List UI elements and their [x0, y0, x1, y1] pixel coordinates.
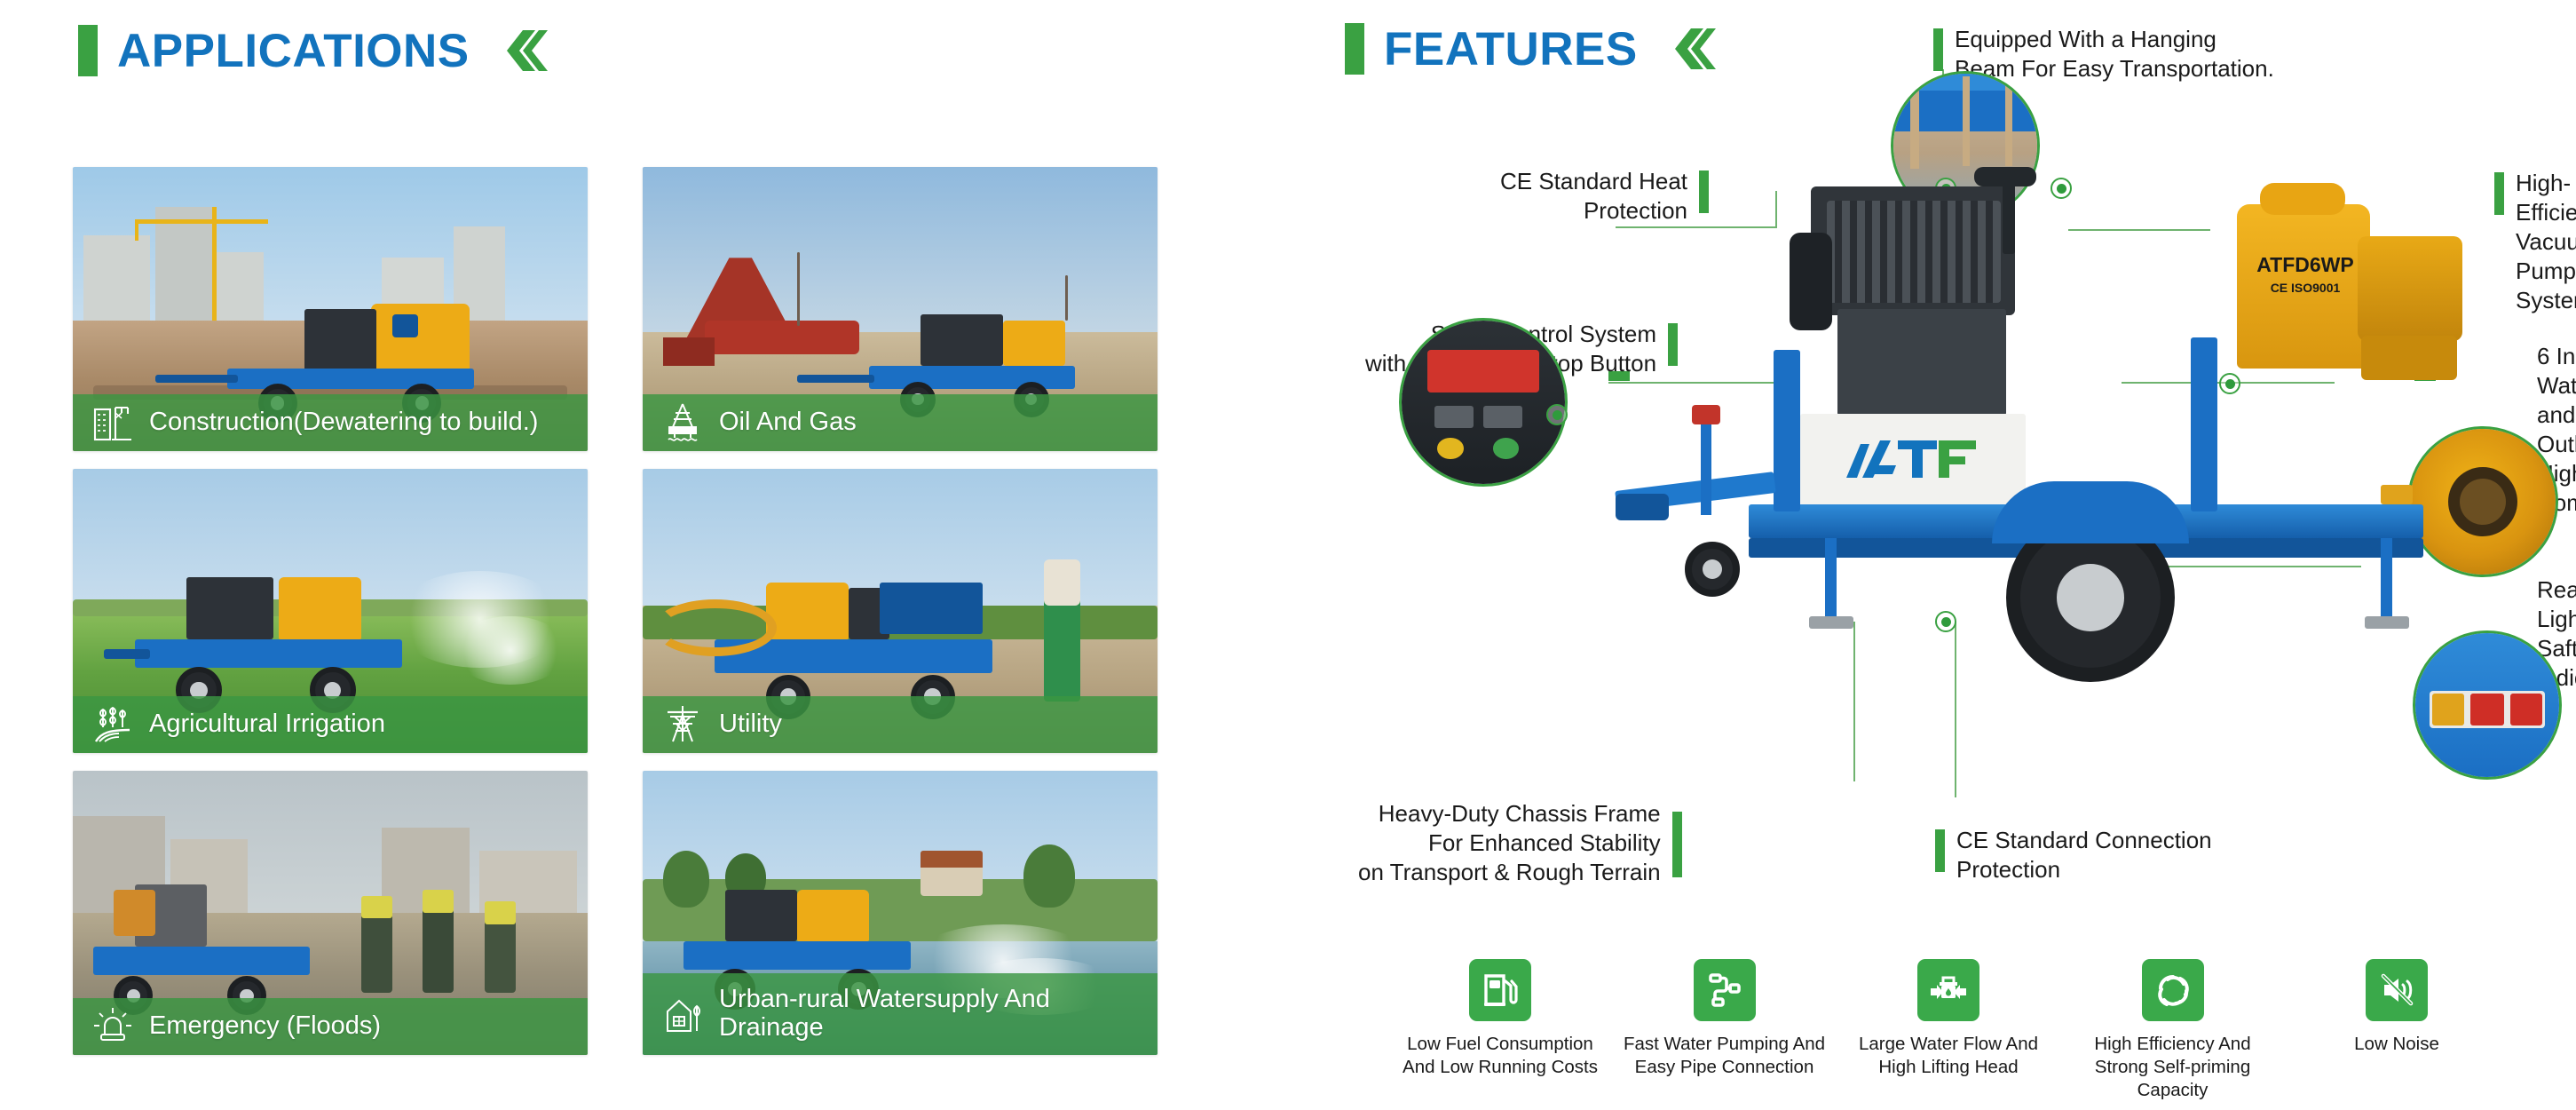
siren-light-icon [92, 1004, 133, 1047]
application-card-emergency-floods[interactable]: Emergency (Floods) [73, 771, 588, 1055]
applications-grid: Construction(Dewatering to build.) [73, 167, 1245, 1055]
application-card-urban-rural-watersupply[interactable]: Urban-rural Watersupply And Drainage [643, 771, 1158, 1055]
benefit-caption: Low Noise [2354, 1033, 2439, 1056]
brochure-page: APPLICATIONS [0, 0, 2576, 1110]
application-label-text: Emergency (Floods) [149, 1011, 381, 1040]
benefit-caption: Large Water Flow And High Lifting Head [1859, 1033, 2038, 1079]
application-label-text: Oil And Gas [719, 408, 857, 436]
application-card-oil-and-gas[interactable]: Oil And Gas [643, 167, 1158, 451]
rear-light [2381, 485, 2413, 504]
features-section: FEATURES Equipped With a Hanging B [1323, 0, 2576, 1110]
application-label: Agricultural Irrigation [73, 696, 588, 753]
applications-title: APPLICATIONS [117, 28, 470, 75]
benefits-row: Low Fuel Consumption And Low Running Cos… [1327, 959, 2570, 1101]
hotspot-smart-control[interactable] [1546, 404, 1568, 425]
double-chevron-left-icon [1670, 28, 1716, 69]
oil-rig-icon [662, 400, 703, 443]
atf-logo-panel [1800, 414, 2026, 510]
valve-flow-icon [1917, 959, 1979, 1021]
application-label-text: Urban-rural Watersupply And Drainage [719, 985, 1142, 1043]
product-illustration-pump-trailer: ATFD6WP CE ISO9001 [1616, 151, 2512, 861]
benefit-caption: High Efficiency And Strong Self-priming … [2071, 1033, 2275, 1101]
callout-text: High-Efficiency Vacuum Pump System [2516, 169, 2576, 315]
jockey-wheel [1685, 542, 1740, 597]
benefit-caption: Low Fuel Consumption And Low Running Cos… [1403, 1033, 1598, 1079]
mute-speaker-icon [2366, 959, 2428, 1021]
atf-logo [1846, 435, 1979, 488]
application-card-agricultural-irrigation[interactable]: Agricultural Irrigation [73, 469, 588, 753]
pump-model-text: ATFD6WP [2256, 253, 2353, 277]
benefit-low-fuel-consumption: Low Fuel Consumption And Low Running Cos… [1398, 959, 1602, 1101]
double-chevron-left-icon [502, 30, 548, 71]
construction-crane-icon [92, 400, 133, 443]
pump-cert-text: CE ISO9001 [2271, 281, 2341, 295]
application-label: Construction(Dewatering to build.) [73, 394, 588, 451]
callout-accent-bar [1933, 28, 1943, 71]
application-card-utility[interactable]: Utility [643, 469, 1158, 753]
power-pylon-icon [662, 702, 703, 745]
benefit-large-water-flow: Large Water Flow And High Lifting Head [1846, 959, 2051, 1101]
features-title: FEATURES [1384, 26, 1638, 73]
applications-section: APPLICATIONS [0, 0, 1323, 1110]
application-card-construction[interactable]: Construction(Dewatering to build.) [73, 167, 588, 451]
fuel-pump-icon [1469, 959, 1531, 1021]
application-label: Emergency (Floods) [73, 998, 588, 1055]
impeller-icon [2142, 959, 2204, 1021]
application-label: Urban-rural Watersupply And Drainage [643, 973, 1158, 1055]
applications-heading: APPLICATIONS [78, 25, 548, 76]
jockey-handle [1692, 405, 1720, 424]
pump-nameplate: ATFD6WP CE ISO9001 [2251, 250, 2359, 297]
features-heading: FEATURES [1345, 23, 1716, 75]
benefit-high-efficiency: High Efficiency And Strong Self-priming … [2071, 959, 2275, 1101]
benefit-caption: Fast Water Pumping And Easy Pipe Connect… [1624, 1033, 1825, 1079]
wheat-field-icon [92, 702, 133, 745]
heading-accent-bar [1345, 23, 1364, 75]
pipe-connection-icon [1694, 959, 1756, 1021]
detail-bubble-control-panel [1399, 318, 1568, 487]
application-label-text: Agricultural Irrigation [149, 710, 385, 738]
application-label: Utility [643, 696, 1158, 753]
benefit-fast-water-pumping: Fast Water Pumping And Easy Pipe Connect… [1623, 959, 1827, 1101]
application-label-text: Construction(Dewatering to build.) [149, 408, 538, 436]
house-water-icon [662, 992, 703, 1035]
benefit-low-noise: Low Noise [2295, 959, 2499, 1101]
application-label: Oil And Gas [643, 394, 1158, 451]
heading-accent-bar [78, 25, 98, 76]
application-label-text: Utility [719, 710, 782, 738]
